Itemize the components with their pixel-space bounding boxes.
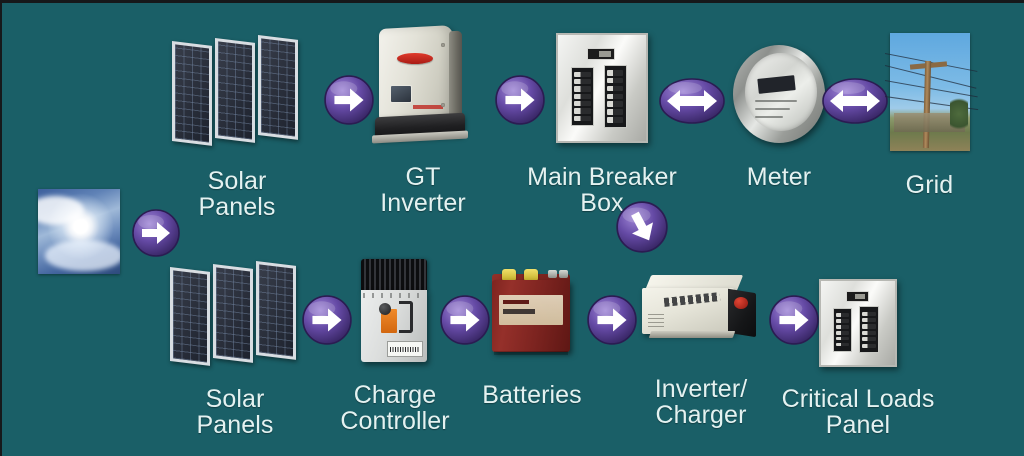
node-critical-loads-panel: Critical Loads Panel (778, 279, 938, 439)
deep-cycle-battery-image (492, 269, 572, 361)
node-label: Solar Panels (170, 169, 304, 221)
critical-loads-panel-image (819, 279, 897, 367)
node-label: GT Inverter (360, 165, 486, 217)
node-solar-panels-bottom: Solar Panels (168, 261, 302, 439)
node-label: Inverter/ Charger (655, 377, 748, 429)
node-inverter-charger: Inverter/ Charger (636, 275, 766, 429)
node-charge-controller: Charge Controller (342, 259, 448, 435)
main-breaker-box-to-meter-arrow (659, 76, 725, 126)
node-label: Solar Panels (168, 387, 302, 439)
node-label: Charge Controller (340, 383, 449, 435)
grid-tie-inverter-image (375, 27, 471, 147)
node-label: Batteries (482, 383, 582, 409)
node-meter: Meter (729, 45, 829, 191)
node-label: Critical Loads Panel (782, 387, 935, 439)
node-grid: Grid (882, 33, 977, 199)
electric-meter-image (733, 45, 825, 143)
node-batteries: Batteries (480, 269, 584, 409)
solar-panel-array-image (170, 35, 304, 145)
utility-pole-grid-photo (890, 33, 970, 151)
node-gt-inverter: GT Inverter (360, 27, 486, 217)
solar-system-flow-diagram: Solar Panels GT Inverter (0, 0, 1024, 456)
node-solar-panels-top: Solar Panels (170, 35, 304, 221)
sun-behind-clouds-photo (38, 189, 120, 274)
solar-panel-array-image (168, 261, 302, 365)
meter-to-grid-arrow (822, 76, 888, 126)
charge-controller-image (357, 259, 433, 365)
main-breaker-box-to-critical-loads-arrow (615, 200, 669, 254)
batteries-to-inverter-charger-arrow (586, 294, 638, 346)
inverter-charger-image (642, 275, 760, 357)
node-label: Meter (747, 165, 811, 191)
main-breaker-panel-image (556, 33, 648, 143)
node-label: Grid (906, 173, 954, 199)
